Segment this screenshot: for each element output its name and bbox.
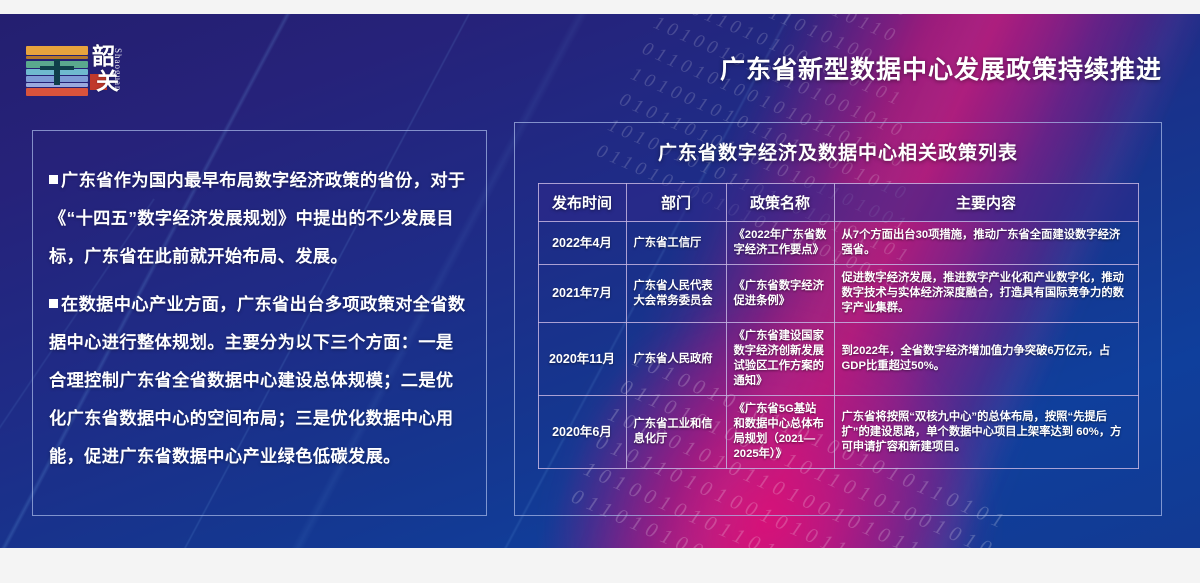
column-header-date: 发布时间: [538, 184, 626, 222]
cell-content: 促进数字经济发展，推进数字产业化和产业数字化，推动数字技术与实体经济深度融合，打…: [834, 265, 1138, 323]
table-header-row: 发布时间 部门 政策名称 主要内容: [538, 184, 1138, 222]
cell-dept: 广东省工业和信息化厅: [626, 396, 726, 469]
table-title: 广东省数字经济及数据中心相关政策列表: [515, 138, 1161, 165]
column-header-content: 主要内容: [834, 184, 1138, 222]
cell-dept: 广东省工信厅: [626, 222, 726, 265]
shaoguan-logo: 韶 关 Shaoguan: [24, 42, 154, 100]
logo-pinyin: Shaoguan: [113, 48, 123, 92]
table-row: 2020年6月 广东省工业和信息化厅 《广东省5G基站和数据中心总体布局规划（2…: [538, 396, 1138, 469]
table-body: 2022年4月 广东省工信厅 《2022年广东省数字经济工作要点》 从7个方面出…: [538, 222, 1138, 469]
bullet-text: 在数据中心产业方面，广东省出台多项政策对全省数据中心进行整体规划。主要分为以下三…: [49, 294, 466, 466]
cell-policy: 《广东省5G基站和数据中心总体布局规划（2021—2025年）》: [726, 396, 834, 469]
slide-canvas: 1001010110010010100110101001101001010110…: [0, 14, 1200, 548]
cell-dept: 广东省人民政府: [626, 323, 726, 396]
column-header-dept: 部门: [626, 184, 726, 222]
bullet-item: 广东省作为国内最早布局数字经济政策的省份，对于《“十四五”数字经济发展规划》中提…: [49, 161, 468, 275]
left-panel-body: 广东省作为国内最早布局数字经济政策的省份，对于《“十四五”数字经济发展规划》中提…: [33, 131, 486, 475]
cell-content: 到2022年，全省数字经济增加值力争突破6万亿元，占GDP比重超过50%。: [834, 323, 1138, 396]
cell-content: 广东省将按照“双核九中心”的总体布局，按照“先提后扩”的建设思路，单个数据中心项…: [834, 396, 1138, 469]
cell-date: 2022年4月: [538, 222, 626, 265]
page-title: 广东省新型数据中心发展政策持续推进: [720, 50, 1162, 86]
square-bullet-icon: [49, 299, 58, 308]
square-bullet-icon: [49, 175, 58, 184]
cell-date: 2020年6月: [538, 396, 626, 469]
left-text-panel: 广东省作为国内最早布局数字经济政策的省份，对于《“十四五”数字经济发展规划》中提…: [32, 130, 487, 516]
table-row: 2021年7月 广东省人民代表大会常务委员会 《广东省数字经济促进条例》 促进数…: [538, 265, 1138, 323]
column-header-policy: 政策名称: [726, 184, 834, 222]
logo-char-1: 韶: [92, 43, 115, 70]
policy-table: 发布时间 部门 政策名称 主要内容 2022年4月 广东省工信厅 《2022年广…: [538, 183, 1139, 469]
cell-policy: 《广东省数字经济促进条例》: [726, 265, 834, 323]
cell-policy: 《2022年广东省数字经济工作要点》: [726, 222, 834, 265]
table-head: 发布时间 部门 政策名称 主要内容: [538, 184, 1138, 222]
bullet-text: 广东省作为国内最早布局数字经济政策的省份，对于《“十四五”数字经济发展规划》中提…: [49, 170, 466, 266]
cell-dept: 广东省人民代表大会常务委员会: [626, 265, 726, 323]
cell-content: 从7个方面出台30项措施，推动广东省全面建设数字经济强省。: [834, 222, 1138, 265]
right-table-panel: 广东省数字经济及数据中心相关政策列表 发布时间 部门 政策名称 主要内容 202…: [514, 122, 1162, 516]
bullet-item: 在数据中心产业方面，广东省出台多项政策对全省数据中心进行整体规划。主要分为以下三…: [49, 285, 468, 475]
table-row: 2020年11月 广东省人民政府 《广东省建设国家数字经济创新发展试验区工作方案…: [538, 323, 1138, 396]
table-row: 2022年4月 广东省工信厅 《2022年广东省数字经济工作要点》 从7个方面出…: [538, 222, 1138, 265]
cell-date: 2020年11月: [538, 323, 626, 396]
stacked-book-icon: [26, 46, 88, 96]
cell-policy: 《广东省建设国家数字经济创新发展试验区工作方案的通知》: [726, 323, 834, 396]
cell-date: 2021年7月: [538, 265, 626, 323]
